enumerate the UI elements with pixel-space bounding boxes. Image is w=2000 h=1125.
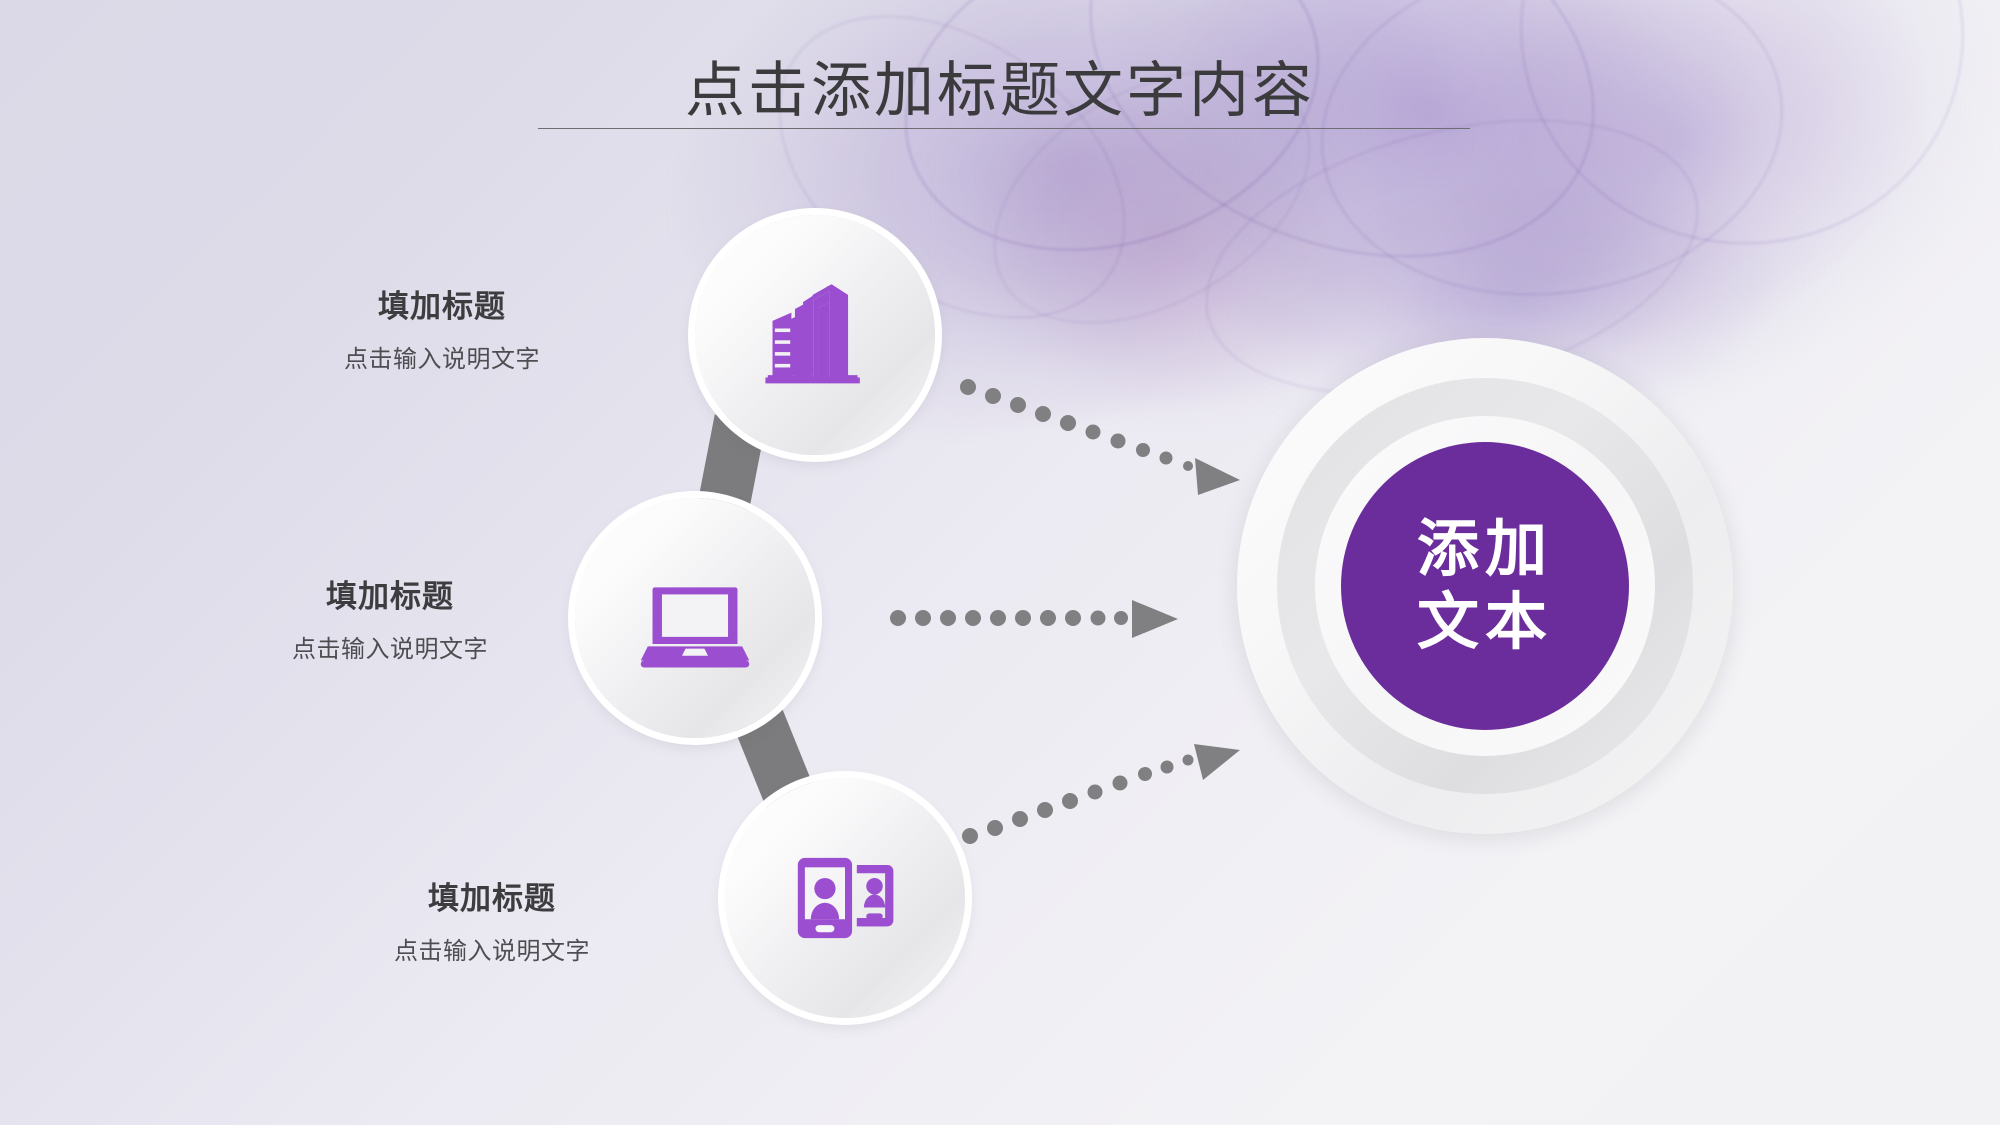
presentation-slide: 点击添加标题文字内容 bbox=[0, 0, 2000, 1125]
icon-circle-3[interactable] bbox=[725, 778, 965, 1018]
step-label-1[interactable]: 填加标题 点击输入说明文字 bbox=[262, 288, 622, 375]
building-icon bbox=[756, 276, 874, 394]
page-title[interactable]: 点击添加标题文字内容 bbox=[0, 58, 2000, 124]
target-circle-group[interactable]: 添加 文本 bbox=[1237, 338, 1733, 834]
ink-vein-decoration bbox=[1487, 0, 1998, 279]
ink-vein-decoration bbox=[1031, 0, 1653, 329]
dotted-arrow-2 bbox=[890, 588, 1190, 648]
icon-circle-1[interactable] bbox=[695, 215, 935, 455]
laptop-icon bbox=[636, 559, 754, 677]
target-text-line1: 添加 bbox=[1417, 513, 1553, 586]
dotted-arrow-1 bbox=[960, 370, 1260, 520]
icon-circle-2[interactable] bbox=[575, 498, 815, 738]
step-title: 填加标题 bbox=[210, 578, 570, 617]
ink-vein-decoration bbox=[1299, 0, 1805, 325]
target-text-line2: 文本 bbox=[1417, 586, 1553, 659]
target-core[interactable]: 添加 文本 bbox=[1341, 442, 1629, 730]
title-block: 点击添加标题文字内容 bbox=[0, 58, 2000, 124]
step-subtitle: 点击输入说明文字 bbox=[312, 937, 672, 967]
title-divider bbox=[538, 128, 1470, 129]
step-title: 填加标题 bbox=[262, 288, 622, 327]
step-subtitle: 点击输入说明文字 bbox=[210, 635, 570, 665]
ink-vein-decoration bbox=[863, 0, 1360, 302]
step-subtitle: 点击输入说明文字 bbox=[262, 345, 622, 375]
step-label-3[interactable]: 填加标题 点击输入说明文字 bbox=[312, 880, 672, 967]
dotted-arrow-3 bbox=[960, 718, 1260, 868]
step-title: 填加标题 bbox=[312, 880, 672, 919]
step-label-2[interactable]: 填加标题 点击输入说明文字 bbox=[210, 578, 570, 665]
mobile-users-icon bbox=[786, 839, 904, 957]
